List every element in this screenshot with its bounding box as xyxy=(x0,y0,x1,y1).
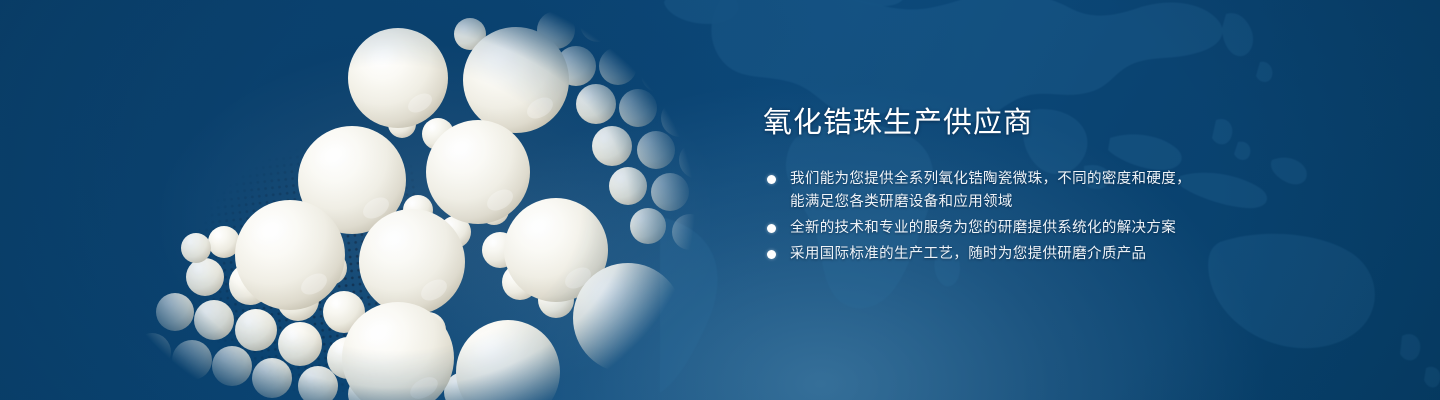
list-item: 采用国际标准的生产工艺，随时为您提供研磨介质产品 xyxy=(763,243,1283,266)
bullet-dot-icon xyxy=(767,250,776,259)
list-item-line: 采用国际标准的生产工艺，随时为您提供研磨介质产品 xyxy=(790,243,1283,266)
zirconia-beads-photo xyxy=(0,0,760,400)
hero-banner: 氧化锆珠生产供应商 我们能为您提供全系列氧化锆陶瓷微珠，不同的密度和硬度， 能满… xyxy=(0,0,1440,400)
feature-list: 我们能为您提供全系列氧化锆陶瓷微珠，不同的密度和硬度， 能满足您各类研磨设备和应… xyxy=(763,168,1283,266)
list-item-line: 我们能为您提供全系列氧化锆陶瓷微珠，不同的密度和硬度， xyxy=(790,168,1283,191)
list-item: 全新的技术和专业的服务为您的研磨提供系统化的解决方案 xyxy=(763,217,1283,240)
list-item-line: 能满足您各类研磨设备和应用领域 xyxy=(790,191,1283,214)
bullet-dot-icon xyxy=(767,175,776,184)
list-item-line: 全新的技术和专业的服务为您的研磨提供系统化的解决方案 xyxy=(790,217,1283,240)
banner-copy: 氧化锆珠生产供应商 我们能为您提供全系列氧化锆陶瓷微珠，不同的密度和硬度， 能满… xyxy=(763,104,1283,269)
bullet-dot-icon xyxy=(767,224,776,233)
page-title: 氧化锆珠生产供应商 xyxy=(763,104,1283,142)
list-item: 我们能为您提供全系列氧化锆陶瓷微珠，不同的密度和硬度， 能满足您各类研磨设备和应… xyxy=(763,168,1283,214)
